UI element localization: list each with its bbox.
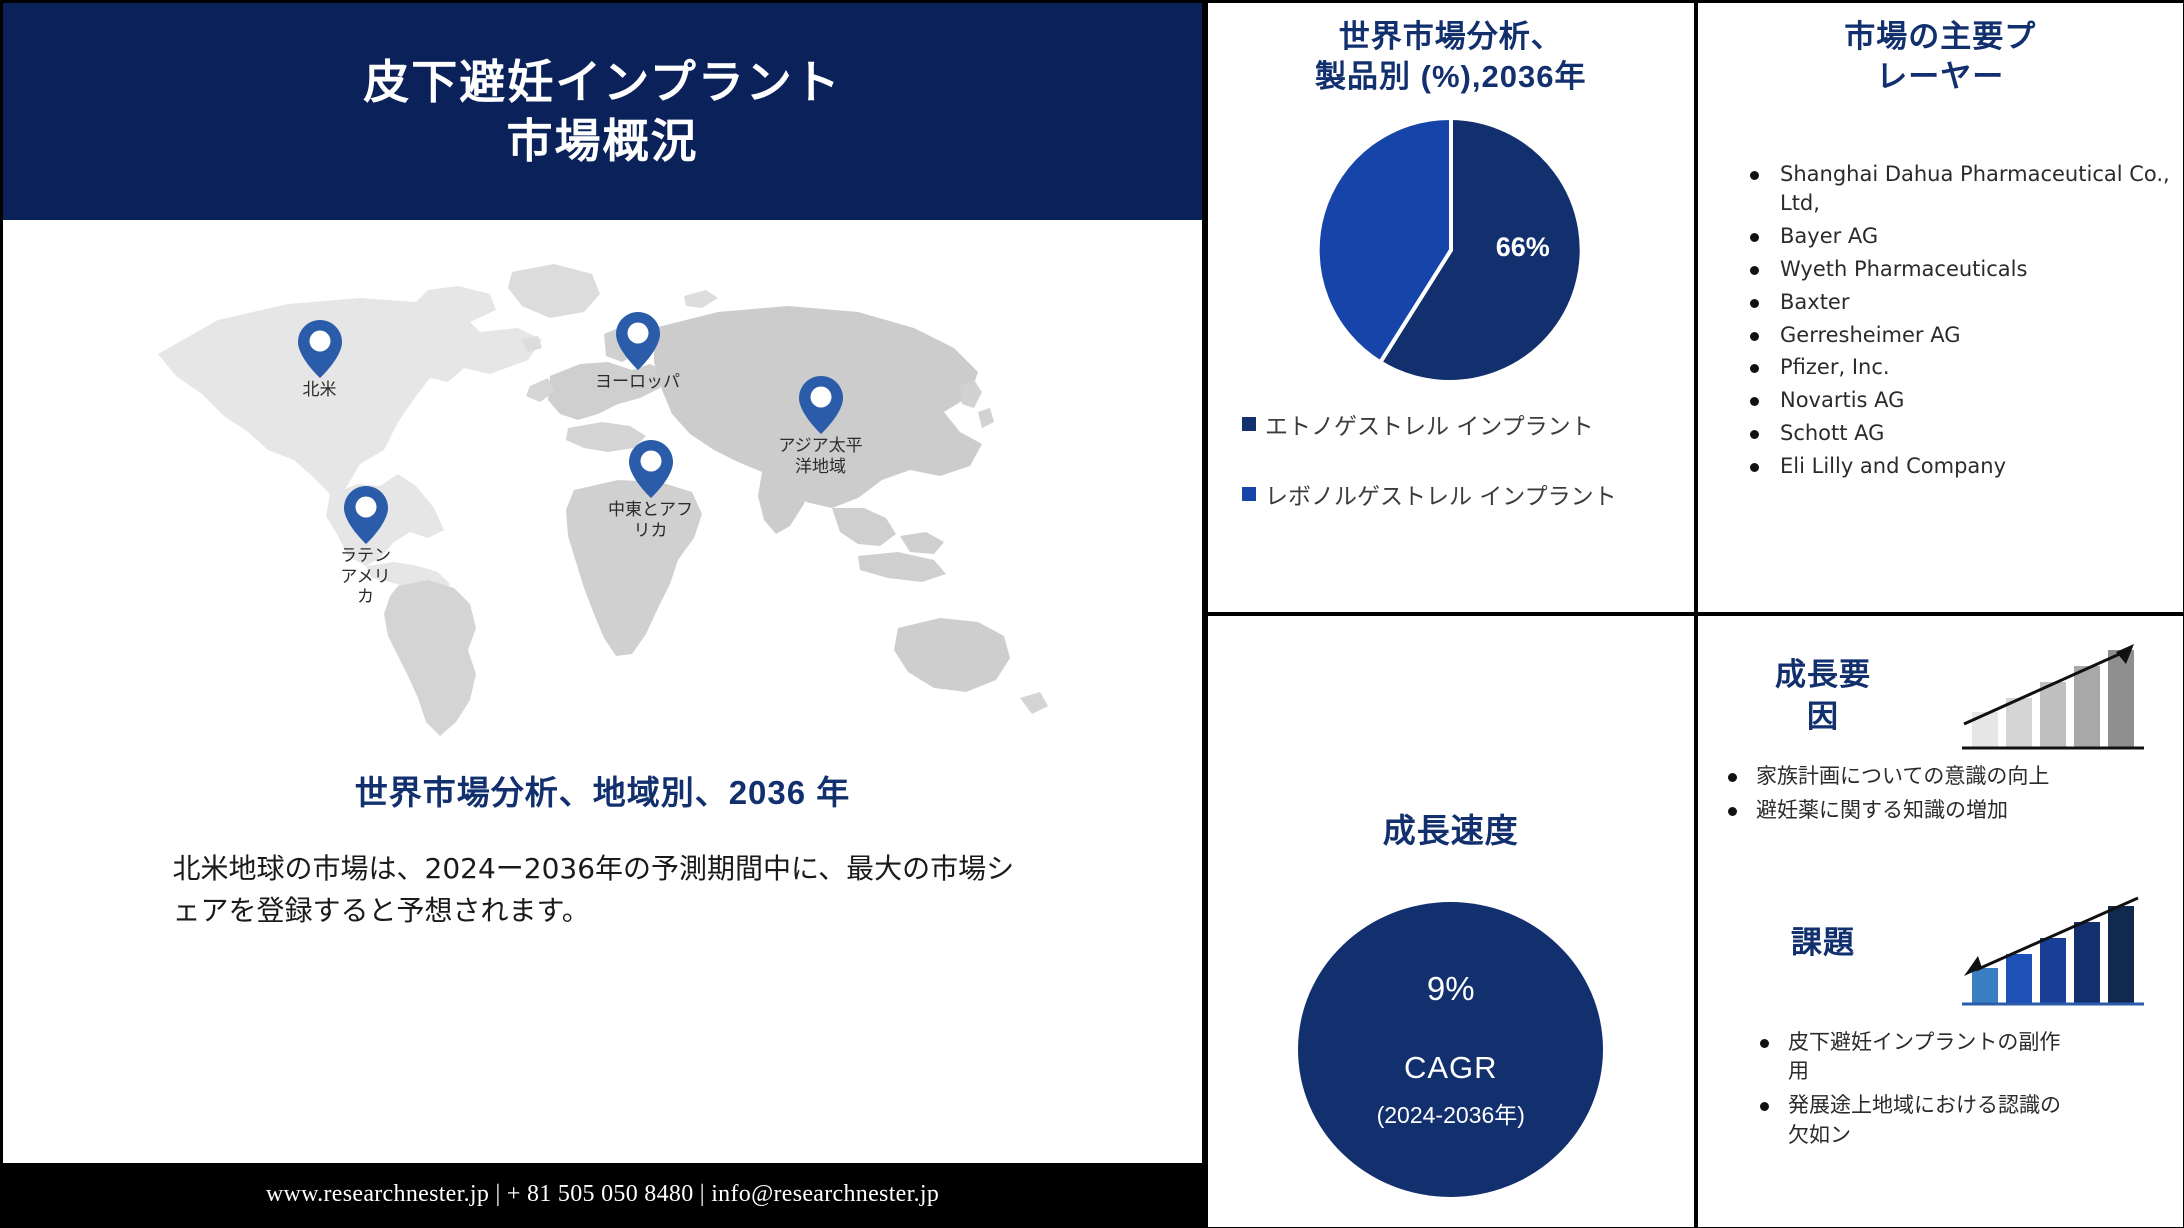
drivers-title: 成長要 因: [1698, 636, 1948, 737]
page-title-line-1: 皮下避妊インプラント: [363, 53, 842, 112]
map-pin-label: ヨーロッパ: [595, 372, 680, 393]
infographic-root: 皮下避妊インプラント 市場概況: [0, 0, 2184, 1228]
map-pin-label: 北米: [303, 380, 337, 401]
list-item: 皮下避妊インプラントの副作用: [1750, 1028, 2080, 1088]
legend-label: エトノゲストレル インプラント: [1265, 407, 1594, 441]
list-item: Pfizer, Inc.: [1742, 353, 2173, 383]
growth-drivers-block: 成長要 因 家族計画についての意識の向上: [1698, 616, 2183, 826]
key-players-list: Shanghai Dahua Pharmaceutical Co., Ltd, …: [1742, 160, 2173, 482]
page-title-line-2: 市場概況: [507, 112, 699, 171]
map-pin-label: ラテン アメリ カ: [340, 546, 391, 608]
legend-label: レボノルゲストレル インプラント: [1265, 477, 1617, 511]
pie-chart-svg: [1296, 114, 1606, 386]
players-panel-title: 市場の主要プ レーヤー: [1708, 17, 2173, 98]
location-pin-icon: [799, 376, 843, 434]
location-pin-icon: [344, 486, 388, 544]
challenges-block: 課題 皮下避妊インプラントの副作用 発展途上地域における認識の欠如ン: [1698, 830, 2183, 1151]
list-item: Gerresheimer AG: [1742, 321, 2173, 351]
list-item: Bayer AG: [1742, 222, 2173, 252]
players-title-line-1: 市場の主要プ: [1708, 17, 2173, 57]
legend-item-levonorgestrel: レボノルゲストレル インプラント: [1242, 477, 1694, 511]
challenges-list: 皮下避妊インプラントの副作用 発展途上地域における認識の欠如ン: [1750, 1028, 2080, 1151]
pie-value-label: 66%: [1496, 232, 1550, 263]
growth-drivers-list: 家族計画についての意識の向上 避妊薬に関する知識の増加: [1718, 762, 2183, 826]
key-players-panel: 市場の主要プ レーヤー Shanghai Dahua Pharmaceutica…: [1695, 0, 2184, 615]
contact-footer: www.researchnester.jp | + 81 505 050 848…: [3, 1163, 1202, 1225]
market-overview-card: 皮下避妊インプラント 市場概況: [0, 0, 1205, 1228]
map-pin-label: アジア太平 洋地域: [778, 436, 862, 477]
list-item: 発展途上地域における認識の欠如ン: [1750, 1091, 2080, 1151]
pie-chart: 66%: [1296, 114, 1606, 391]
map-pin-label: 中東とアフ リカ: [608, 500, 693, 541]
location-pin-icon: [616, 312, 660, 370]
challenges-header: 課題: [1698, 892, 2183, 1012]
map-pin-middle-east-africa[interactable]: 中東とアフ リカ: [591, 440, 711, 541]
stats-grid: 世界市場分析、 製品別 (%),2036年 66% エトノゲストレル インプラン…: [1205, 0, 2184, 1228]
cagr-circle: 9% CAGR (2024-2036年): [1298, 902, 1603, 1197]
challenges-bar-chart-down-icon: [1948, 892, 2148, 1012]
location-pin-icon: [629, 440, 673, 498]
map-pin-latin-america[interactable]: ラテン アメリ カ: [306, 486, 426, 608]
list-item: 避妊薬に関する知識の増加: [1718, 796, 2183, 826]
list-item: Shanghai Dahua Pharmaceutical Co., Ltd,: [1742, 160, 2173, 220]
legend-swatch-icon: [1242, 487, 1256, 501]
map-description: 北米地球の市場は、2024ー2036年の予測期間中に、最大の市場シェアを登録する…: [173, 848, 1033, 932]
map-pin-north-america[interactable]: 北米: [260, 320, 380, 401]
cagr-label: CAGR: [1404, 1050, 1498, 1086]
list-item: Eli Lilly and Company: [1742, 452, 2173, 482]
cagr-panel-title: 成長速度: [1383, 804, 1519, 852]
list-item: Wyeth Pharmaceuticals: [1742, 255, 2173, 285]
players-title-line-2: レーヤー: [1708, 57, 2173, 97]
list-item: Baxter: [1742, 288, 2173, 318]
drivers-title-line-1: 成長要: [1698, 654, 1948, 696]
legend-swatch-icon: [1242, 417, 1256, 431]
legend-item-etonogestrel: エトノゲストレル インプラント: [1242, 407, 1694, 441]
drivers-title-line-2: 因: [1698, 696, 1948, 738]
world-map: 北米 ヨーロッパ アジア太平 洋地域: [98, 236, 1108, 756]
footer-text: www.researchnester.jp | + 81 505 050 848…: [266, 1181, 939, 1208]
location-pin-icon: [298, 320, 342, 378]
cagr-period: (2024-2036年): [1377, 1096, 1525, 1130]
growth-bar-chart-up-icon: [1948, 636, 2148, 756]
cagr-value: 9%: [1427, 970, 1475, 1008]
list-item: Schott AG: [1742, 419, 2173, 449]
map-zone: 北米 ヨーロッパ アジア太平 洋地域: [3, 220, 1202, 1163]
product-share-panel: 世界市場分析、 製品別 (%),2036年 66% エトノゲストレル インプラン…: [1205, 0, 1697, 615]
challenges-title: 課題: [1698, 892, 1948, 964]
drivers-challenges-panel: 成長要 因 家族計画についての意識の向上: [1695, 613, 2184, 1228]
pie-panel-title: 世界市場分析、 製品別 (%),2036年: [1315, 17, 1586, 98]
pie-title-line-1: 世界市場分析、: [1315, 17, 1586, 57]
pie-title-line-2: 製品別 (%),2036年: [1315, 57, 1586, 97]
pie-legend: エトノゲストレル インプラント レボノルゲストレル インプラント: [1208, 407, 1694, 547]
title-banner: 皮下避妊インプラント 市場概況: [3, 3, 1202, 220]
list-item: 家族計画についての意識の向上: [1718, 762, 2183, 792]
list-item: Novartis AG: [1742, 386, 2173, 416]
growth-rate-panel: 成長速度 9% CAGR (2024-2036年): [1205, 613, 1697, 1228]
drivers-header: 成長要 因: [1698, 636, 2183, 756]
map-caption: 世界市場分析、地域別、2036 年: [355, 766, 851, 814]
map-pin-europe[interactable]: ヨーロッパ: [578, 312, 698, 393]
map-pin-asia-pacific[interactable]: アジア太平 洋地域: [761, 376, 881, 477]
